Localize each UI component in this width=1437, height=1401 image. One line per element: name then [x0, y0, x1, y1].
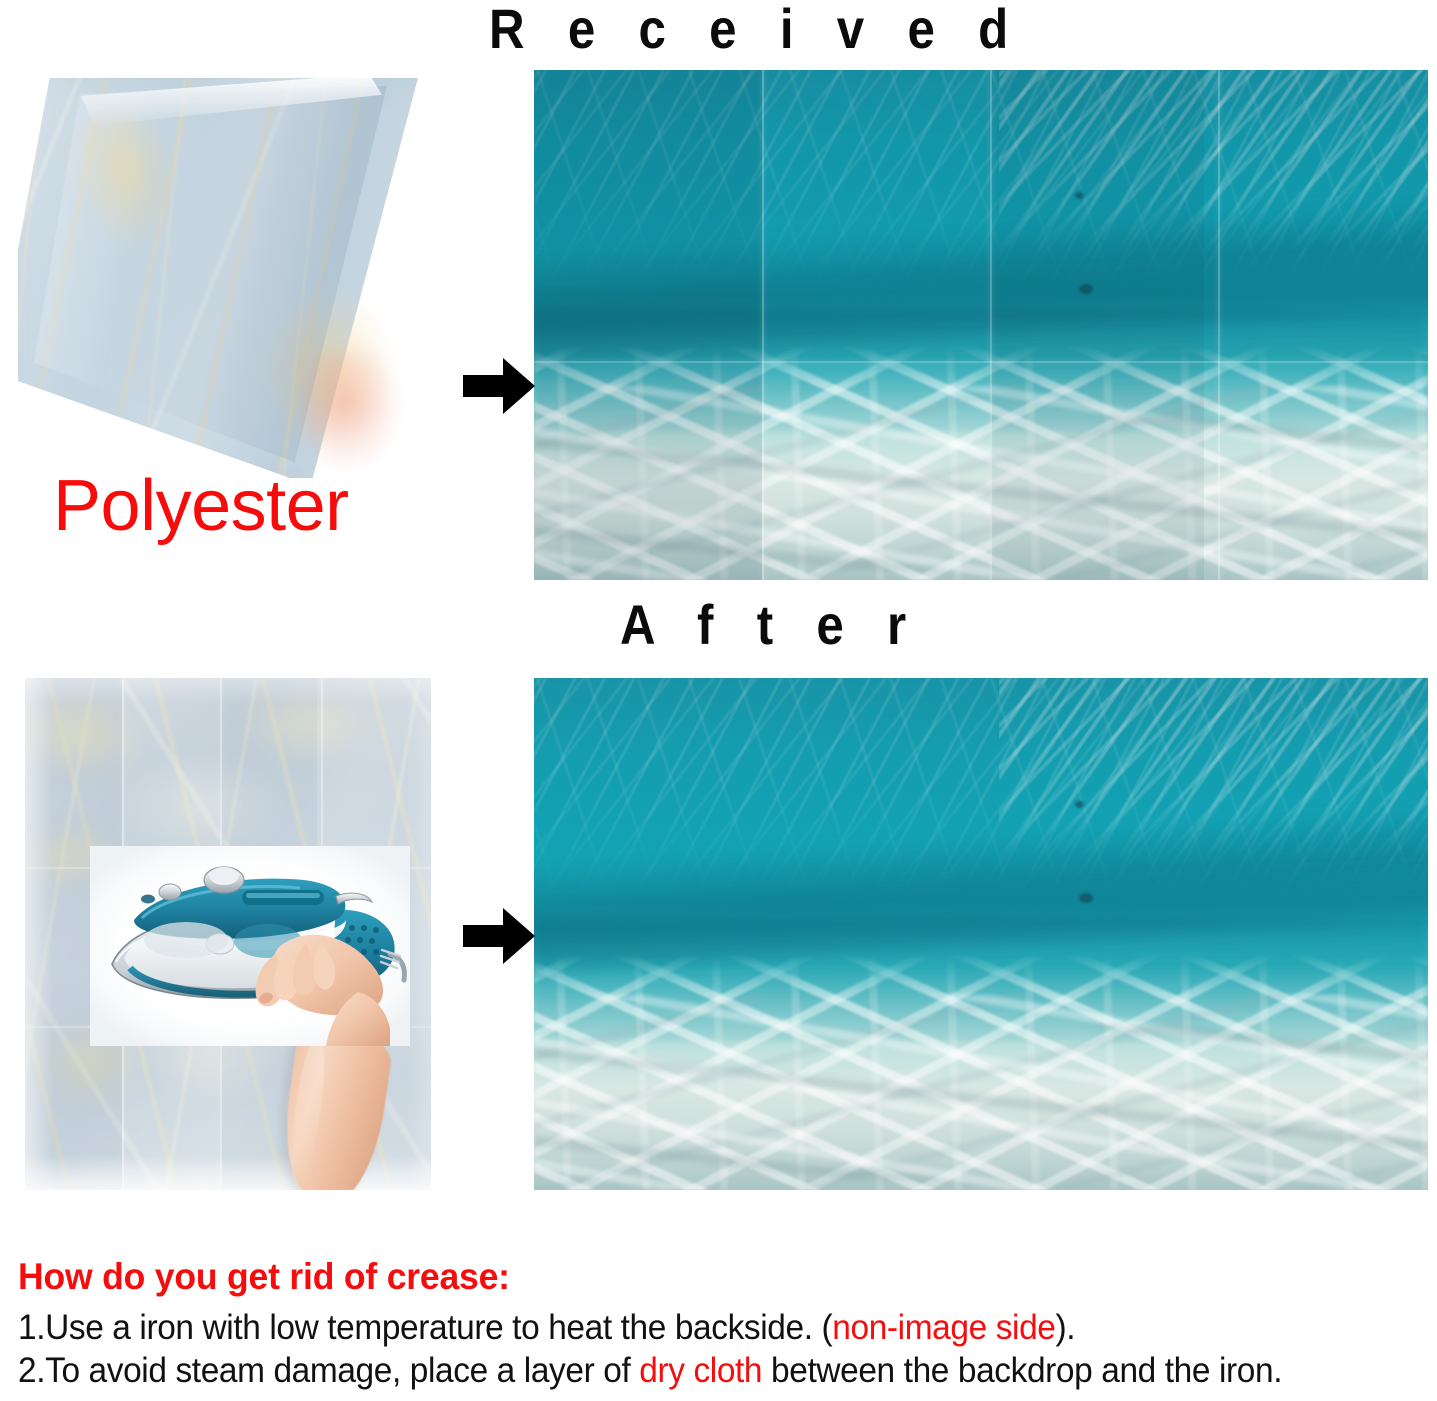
arrow-right-icon	[463, 908, 535, 964]
arrow-right-icon	[463, 358, 535, 414]
infographic-canvas: R e c e i v e d A f t e r Polyester	[0, 0, 1437, 1401]
steam-iron-illustration	[90, 846, 410, 1046]
photo-ironing-demo	[25, 678, 431, 1190]
care-step-1-suffix: ).	[1055, 1308, 1075, 1347]
material-label-polyester: Polyester	[53, 465, 349, 547]
care-step-2-suffix: between the backdrop and the iron.	[762, 1351, 1282, 1390]
photo-folded-polyester-roll	[18, 78, 418, 478]
care-step-2-highlight: dry cloth	[639, 1351, 762, 1390]
care-step-2-prefix: 2.To avoid steam damage, place a layer o…	[18, 1351, 639, 1390]
care-step-1-prefix: 1.Use a iron with low temperature to hea…	[18, 1308, 832, 1347]
section-heading-after: A f t e r	[620, 592, 921, 657]
fabric-sheet	[18, 78, 418, 478]
care-step-1-highlight: non-image side	[832, 1308, 1055, 1347]
photo-after-backdrop	[534, 678, 1428, 1190]
section-heading-received: R e c e i v e d	[489, 0, 1023, 61]
fold-crease-overlay	[534, 70, 1428, 580]
care-step-2: 2.To avoid steam damage, place a layer o…	[18, 1350, 1365, 1391]
care-step-1: 1.Use a iron with low temperature to hea…	[18, 1307, 1365, 1348]
photo-vignette	[534, 678, 1428, 1190]
care-instructions: How do you get rid of crease: 1.Use a ir…	[18, 1258, 1428, 1394]
care-instructions-title: How do you get rid of crease:	[18, 1258, 1372, 1295]
fold-band-shade	[534, 70, 1428, 361]
fold-line-horizontal	[534, 361, 1428, 363]
photo-received-backdrop	[534, 70, 1428, 580]
photo-iron-card	[90, 846, 410, 1046]
